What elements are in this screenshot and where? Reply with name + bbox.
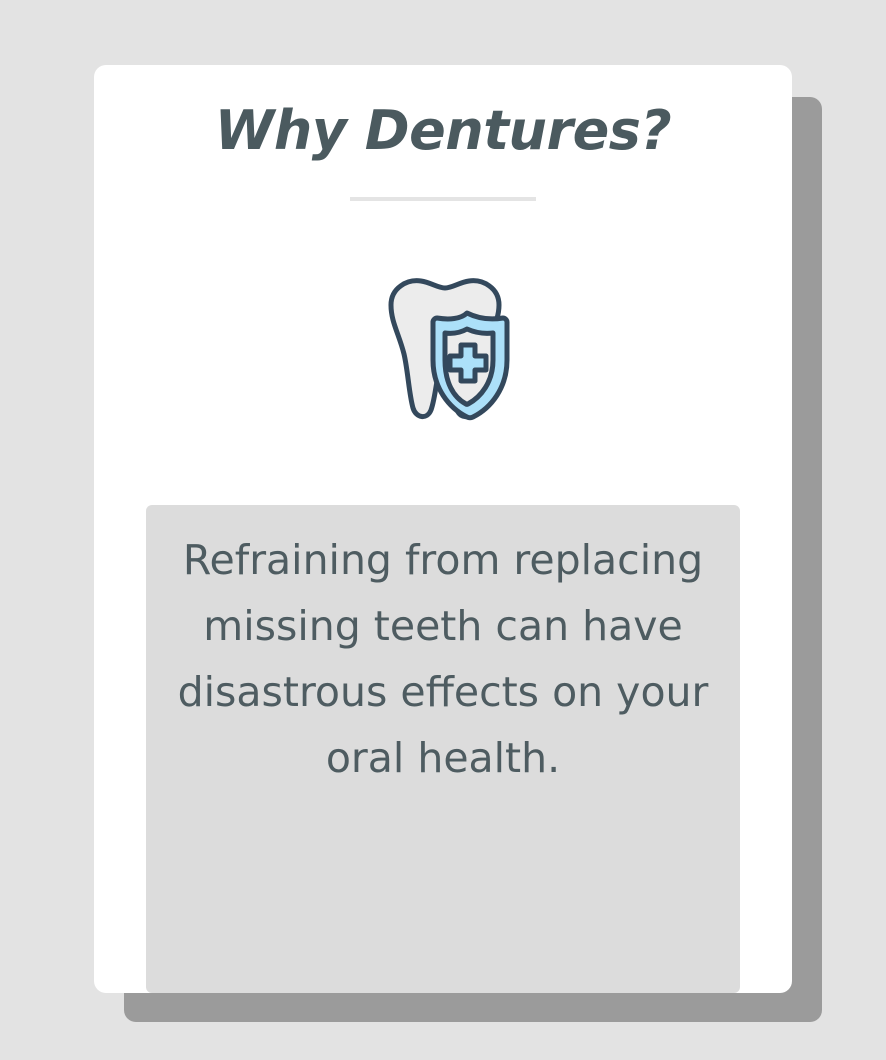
slide-canvas: Why Dentures? Refraining from replacing … (0, 0, 886, 1060)
title-divider (350, 197, 536, 201)
tooth-shield-plus-icon (361, 272, 525, 428)
body-text: Refraining from replacing missing teeth … (168, 527, 718, 791)
body-text-panel: Refraining from replacing missing teeth … (146, 505, 740, 993)
icon-container (94, 270, 792, 430)
content-card: Why Dentures? Refraining from replacing … (94, 65, 792, 993)
page-title: Why Dentures? (94, 101, 792, 160)
